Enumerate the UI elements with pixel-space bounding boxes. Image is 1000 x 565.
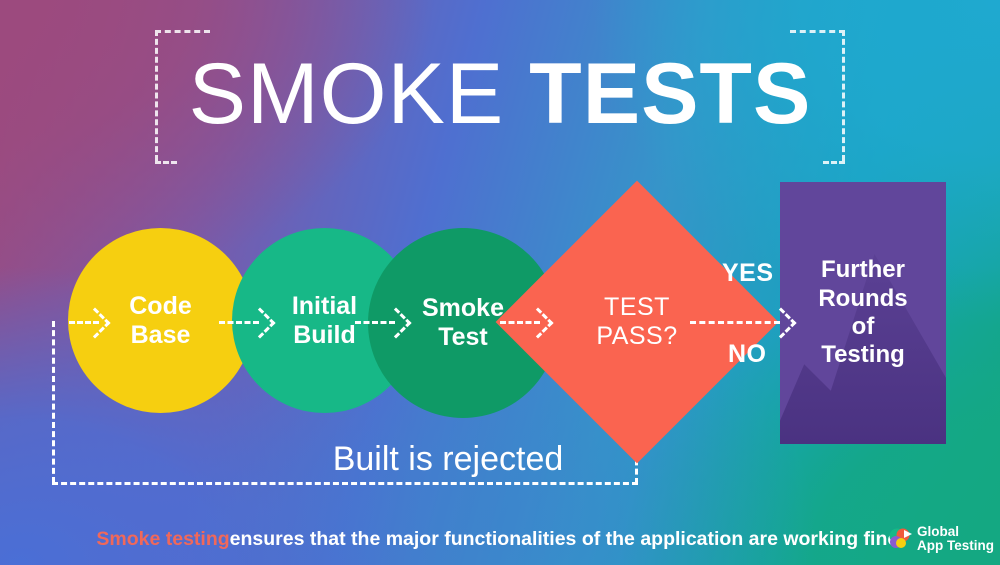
brand-logo-line2: App Testing	[917, 539, 994, 553]
brand-logo[interactable]: Global App Testing	[887, 525, 994, 553]
brand-logo-line1: Global	[917, 525, 994, 539]
feedback-label-text: Built is rejected	[333, 440, 564, 478]
footer-caption-rest: ensures that the major functionalities o…	[230, 528, 904, 551]
flow-node-further-rounds[interactable]: FurtherRoundsofTesting	[780, 182, 946, 444]
title-light-part: SMOKE	[189, 46, 530, 142]
footer-caption-accent: Smoke testing	[96, 528, 229, 551]
branch-label-no: NO	[728, 340, 767, 369]
flow-node-further-rounds-label: FurtherRoundsofTesting	[818, 256, 907, 369]
brand-logo-text: Global App Testing	[917, 525, 994, 553]
footer-caption: Smoke testing ensures that the major fun…	[0, 528, 1000, 551]
flow-node-initial-build-label: InitialBuild	[292, 292, 357, 350]
branch-label-yes: YES	[722, 259, 774, 288]
page-title: SMOKE TESTS	[0, 24, 1000, 164]
global-app-testing-logo-icon	[887, 525, 914, 552]
feedback-path-bottom	[52, 482, 638, 485]
title-bold-part: TESTS	[529, 46, 811, 142]
flow-node-smoke-test-label: SmokeTest	[422, 294, 504, 352]
smoke-tests-infographic: SMOKE TESTS Built is rejected CodeBase I…	[0, 0, 1000, 565]
flow-node-code-base-label: CodeBase	[129, 292, 192, 350]
feedback-label: Built is rejected	[0, 440, 1000, 479]
